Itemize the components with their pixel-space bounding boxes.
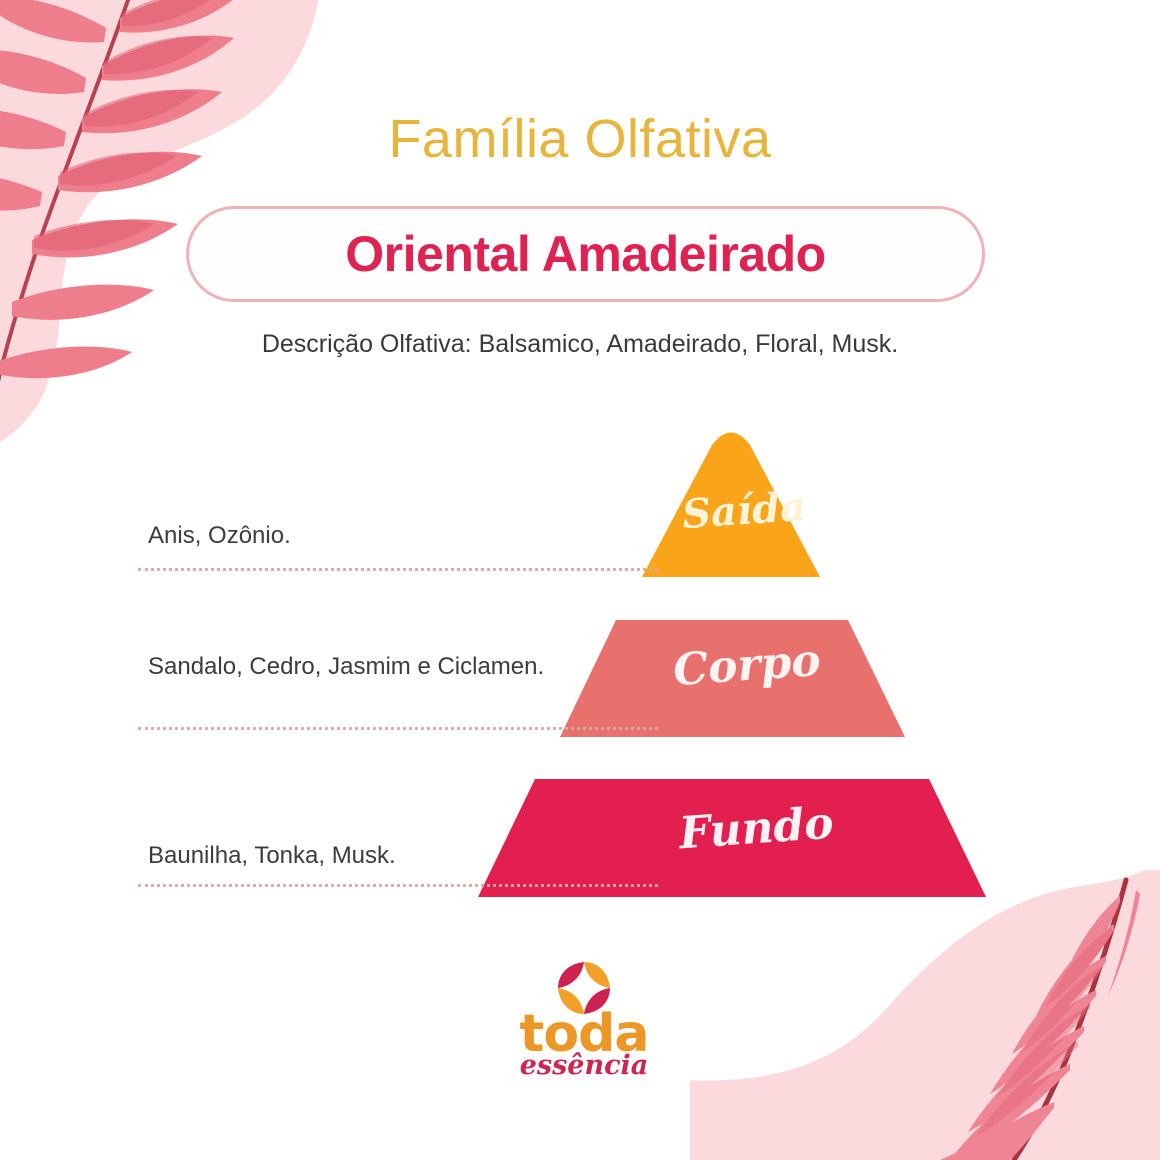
logo-script: essência [504, 1050, 664, 1081]
notes-corpo-text: Sandalo, Cedro, Jasmim e Ciclamen. [148, 652, 578, 683]
pyramid-tier-saida [642, 433, 820, 578]
notes-saida-text: Anis, Ozônio. [148, 521, 578, 552]
brand-logo: toda essência [504, 958, 664, 1078]
notes-saida-rule [138, 568, 658, 571]
pyramid-tier-corpo [560, 620, 905, 737]
notes-corpo-rule [138, 727, 658, 730]
pyramid-tier-fundo [478, 779, 986, 897]
notes-fundo-text: Baunilha, Tonka, Musk. [148, 841, 578, 872]
poster-canvas: Família Olfativa Oriental Amadeirado Des… [0, 0, 1160, 1160]
notes-fundo-rule [138, 884, 658, 887]
